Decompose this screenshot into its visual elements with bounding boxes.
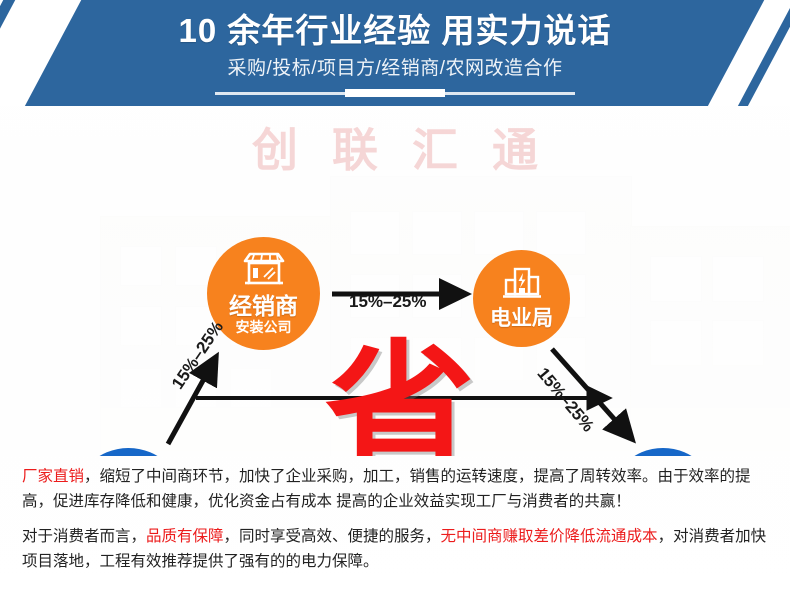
header-divider-center (345, 89, 445, 97)
power-building-icon (502, 267, 542, 304)
highlight-quality: 品质有保障 (146, 528, 224, 545)
paragraph-two-part-b: ，同时享受高效、便捷的服务， (224, 528, 441, 545)
header-banner: 10 余年行业经验 用实力说话 采购/投标/项目方/经销商/农网改造合作 (0, 0, 790, 106)
promo-banner: 10 余年行业经验 用实力说话 采购/投标/项目方/经销商/农网改造合作 (0, 0, 790, 602)
flow-diagram: 创联汇通 省 (0, 106, 790, 456)
highlight-factory-direct: 厂家直销 (22, 468, 84, 485)
paragraph-one-rest: ，缩短了中间商环节，加快了企业采购，加工，销售的运转速度，提高了周转效率。由于效… (22, 468, 751, 510)
description-section: 厂家直销，缩短了中间商环节，加快了企业采购，加工，销售的运转速度，提高了周转效率… (0, 456, 790, 602)
header-subtitle: 采购/投标/项目方/经销商/农网改造合作 (0, 56, 790, 82)
arrow-label-dealer-to-bureau: 15%–25% (349, 292, 427, 312)
storefront-icon (242, 252, 286, 291)
paragraph-two-part-a: 对于消费者而言， (22, 528, 146, 545)
node-dealer-sublabel: 安装公司 (236, 319, 292, 336)
save-character: 省 (310, 338, 490, 456)
paragraph-one: 厂家直销，缩短了中间商环节，加快了企业采购，加工，销售的运转速度，提高了周转效率… (22, 464, 774, 514)
header-title: 10 余年行业经验 用实力说话 (0, 11, 790, 51)
node-bureau[interactable]: 电业局 (473, 250, 570, 347)
node-dealer-label: 经销商 (229, 293, 298, 319)
highlight-no-middleman: 无中间商赚取差价降低流通成本 (441, 528, 658, 545)
paragraph-two: 对于消费者而言，品质有保障，同时享受高效、便捷的服务，无中间商赚取差价降低流通成… (22, 524, 774, 574)
node-bureau-label: 电业局 (490, 307, 553, 331)
